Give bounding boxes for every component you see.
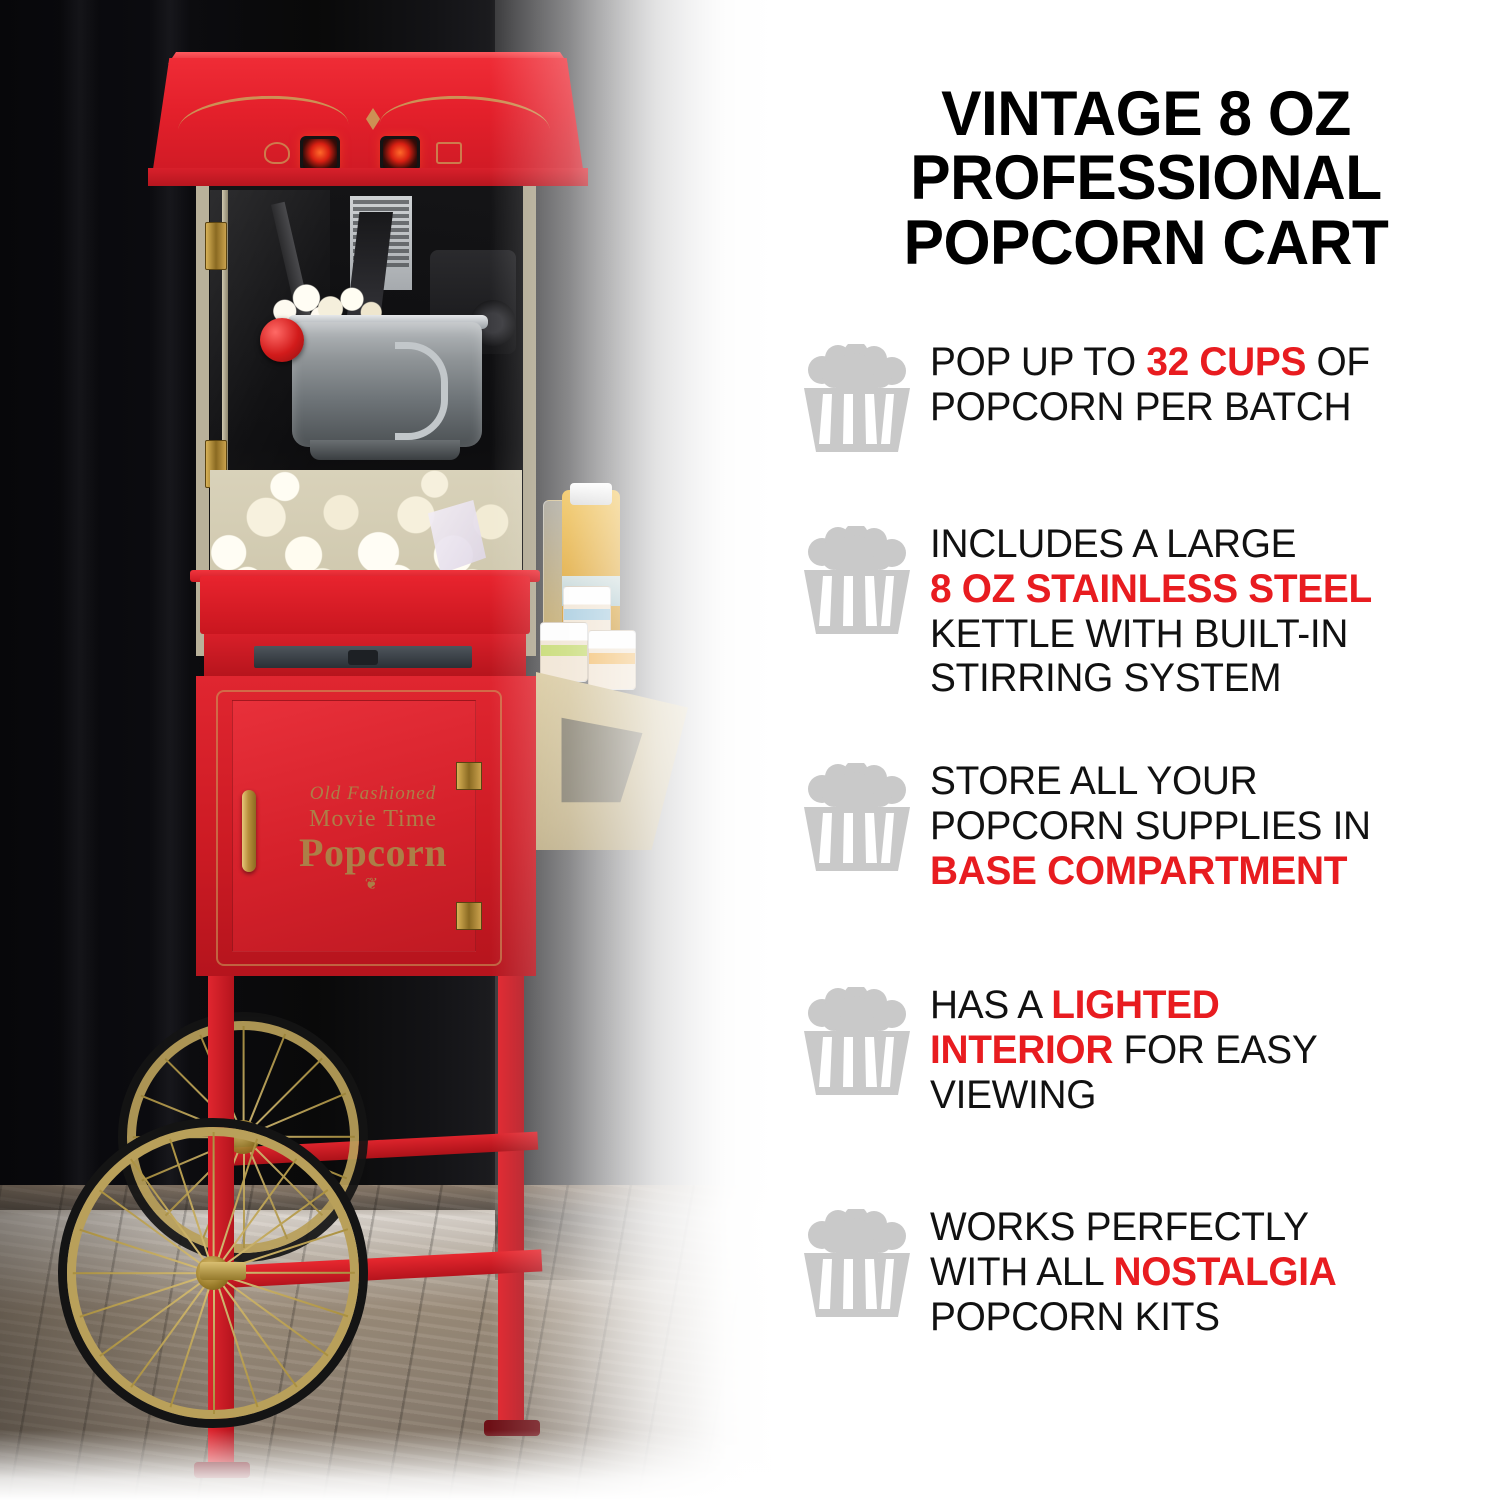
stainless-steel-kettle xyxy=(292,322,482,447)
feature-span: POPCORN PER BATCH xyxy=(930,385,1351,429)
feature-highlight: 32 CUPS xyxy=(1146,340,1306,384)
page-title: VINTAGE 8 OZ PROFESSIONAL POPCORN CART xyxy=(823,82,1468,275)
cart-foot-rear xyxy=(484,1420,540,1436)
cabinet-hinge-top xyxy=(456,762,482,790)
feature-text: STORE ALL YOURPOPCORN SUPPLIES INBASE CO… xyxy=(930,759,1483,893)
feature-item: WORKS PERFECTLYWITH ALL NOSTALGIAPOPCORN… xyxy=(790,1205,1500,1405)
feature-line: VIEWING xyxy=(930,1073,1458,1118)
feature-text: INCLUDES A LARGE8 OZ STAINLESS STEELKETT… xyxy=(930,522,1483,701)
feature-highlight: BASE COMPARTMENT xyxy=(930,849,1347,893)
feature-line: POPCORN KITS xyxy=(930,1295,1458,1340)
drawer-knob[interactable] xyxy=(348,650,378,665)
feature-line: POP UP TO 32 CUPS OF xyxy=(930,340,1458,385)
feature-span: STORE ALL YOUR xyxy=(930,759,1257,803)
feature-span: KETTLE WITH BUILT-IN xyxy=(930,612,1348,656)
seasoning-tub xyxy=(540,622,588,682)
brass-hinge-top xyxy=(205,222,227,270)
logo-flourish: ❦ xyxy=(288,877,458,893)
feature-line: WORKS PERFECTLY xyxy=(930,1205,1458,1250)
feature-line: STIRRING SYSTEM xyxy=(930,656,1458,701)
feature-item: INCLUDES A LARGE8 OZ STAINLESS STEELKETT… xyxy=(790,522,1500,747)
feature-span: POP UP TO xyxy=(930,340,1146,384)
popcorn-bucket-icon xyxy=(790,340,930,456)
kettle-red-knob[interactable] xyxy=(260,318,304,362)
logo-line-2: Movie Time xyxy=(288,807,458,831)
feature-span: POPCORN SUPPLIES IN xyxy=(930,804,1371,848)
feature-text: HAS A LIGHTEDINTERIOR FOR EASYVIEWING xyxy=(930,983,1483,1117)
popcorn-cart-machine: Old Fashioned Movie Time Popcorn ❦ xyxy=(0,0,700,1500)
feature-line: INTERIOR FOR EASY xyxy=(930,1028,1458,1073)
feature-line: POPCORN PER BATCH xyxy=(930,385,1458,430)
warmer-symbol-icon xyxy=(436,142,462,164)
feature-line: KETTLE WITH BUILT-IN xyxy=(930,612,1458,657)
feature-highlight: 8 OZ STAINLESS STEEL xyxy=(930,567,1372,611)
feature-line: 8 OZ STAINLESS STEEL xyxy=(930,567,1458,612)
feature-item: HAS A LIGHTEDINTERIOR FOR EASYVIEWING xyxy=(790,983,1500,1193)
feature-line: INCLUDES A LARGE xyxy=(930,522,1458,567)
feature-text: POP UP TO 32 CUPS OFPOPCORN PER BATCH xyxy=(930,340,1483,430)
feature-line: HAS A LIGHTED xyxy=(930,983,1458,1028)
product-infographic: Old Fashioned Movie Time Popcorn ❦ xyxy=(0,0,1500,1500)
cabinet-hinge-bottom xyxy=(456,902,482,930)
feature-line: WITH ALL NOSTALGIA xyxy=(930,1250,1458,1295)
feature-span: STIRRING SYSTEM xyxy=(930,656,1281,700)
feature-span: POPCORN KITS xyxy=(930,1295,1220,1339)
popcorn-bucket-icon xyxy=(790,522,930,638)
bottle-cap xyxy=(570,483,612,505)
canopy-lower-lip xyxy=(148,168,588,186)
cabinet-brass-handle[interactable] xyxy=(242,790,256,872)
feature-highlight: NOSTALGIA xyxy=(1114,1250,1337,1294)
popcorn-bucket-icon xyxy=(790,1205,930,1321)
wheel-axle xyxy=(200,1262,246,1280)
feature-text: WORKS PERFECTLYWITH ALL NOSTALGIAPOPCORN… xyxy=(930,1205,1483,1339)
cart-foot-front xyxy=(194,1462,250,1478)
feature-span: FOR EASY xyxy=(1113,1028,1317,1072)
feature-highlight: INTERIOR xyxy=(930,1028,1113,1072)
feature-panel: VINTAGE 8 OZ PROFESSIONAL POPCORN CART P… xyxy=(790,0,1500,1500)
logo-line-3: Popcorn xyxy=(288,833,458,873)
feature-span: INCLUDES A LARGE xyxy=(930,522,1296,566)
feature-span: VIEWING xyxy=(930,1073,1096,1117)
popcorn-bucket-icon xyxy=(790,983,930,1099)
kettle-base xyxy=(310,440,460,460)
popcorn-bucket-icon xyxy=(790,759,930,875)
feature-item: POP UP TO 32 CUPS OFPOPCORN PER BATCH xyxy=(790,340,1500,510)
cabinet-logo: Old Fashioned Movie Time Popcorn ❦ xyxy=(288,784,458,894)
feature-span: HAS A xyxy=(930,983,1051,1027)
logo-line-1: Old Fashioned xyxy=(288,784,458,803)
feature-highlight: LIGHTED xyxy=(1051,983,1219,1027)
power-switch-kettle[interactable] xyxy=(300,136,340,172)
cart-leg-rear xyxy=(498,976,524,1428)
feature-list: POP UP TO 32 CUPS OFPOPCORN PER BATCHINC… xyxy=(790,340,1500,1417)
product-photo: Old Fashioned Movie Time Popcorn ❦ xyxy=(0,0,790,1500)
feature-span: OF xyxy=(1306,340,1370,384)
red-front-tray xyxy=(200,576,530,634)
feature-span: WITH ALL xyxy=(930,1250,1114,1294)
feature-line: BASE COMPARTMENT xyxy=(930,849,1458,894)
feature-span: WORKS PERFECTLY xyxy=(930,1205,1309,1249)
power-switch-light[interactable] xyxy=(380,136,420,172)
kettle-symbol-icon xyxy=(264,142,290,164)
seasoning-tub xyxy=(588,630,636,690)
feature-line: STORE ALL YOUR xyxy=(930,759,1458,804)
feature-item: STORE ALL YOURPOPCORN SUPPLIES INBASE CO… xyxy=(790,759,1500,971)
feature-line: POPCORN SUPPLIES IN xyxy=(930,804,1458,849)
